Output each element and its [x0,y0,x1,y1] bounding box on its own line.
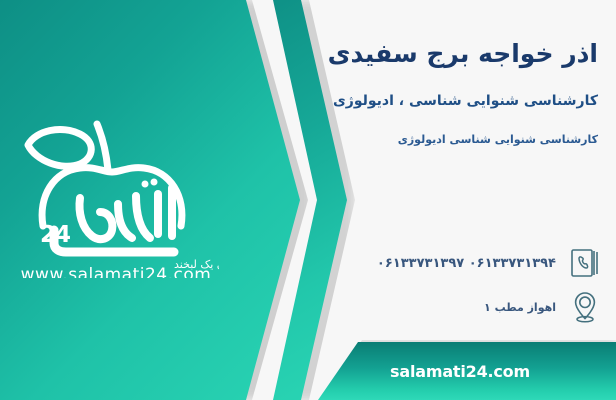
practitioner-specialty: کارشناسی شنوایی شناسی ، ادیولوژی [312,92,598,112]
practitioner-name: اذر خواجه برج سفیدی [312,38,598,69]
practitioner-specialty-secondary: کارشناسی شنوایی شناسی ادیولوژی [312,132,598,147]
location-text: اهواز مطب ۱ [484,301,556,314]
contact-location-row[interactable]: اهواز مطب ۱ [484,290,602,324]
phone-numbers: ۰۶۱۳۳۷۳۱۳۹۷ ۰۶۱۳۳۷۳۱۳۹۴ [377,256,556,271]
footer-website[interactable]: salamati24.com [362,362,530,381]
logo-website: www.salamati24.com [21,265,212,278]
business-card: 24 براحتی یک لبخند www.salamati24.com اذ… [0,0,616,400]
svg-text:24: 24 [40,222,70,248]
logo-badge-24: 24 [40,222,70,248]
contact-phone-row[interactable]: ۰۶۱۳۳۷۳۱۳۹۷ ۰۶۱۳۳۷۳۱۳۹۴ [377,246,602,280]
map-pin-icon [568,290,602,324]
brand-logo: 24 براحتی یک لبخند www.salamati24.com [14,108,219,278]
phone-book-icon [568,246,602,280]
